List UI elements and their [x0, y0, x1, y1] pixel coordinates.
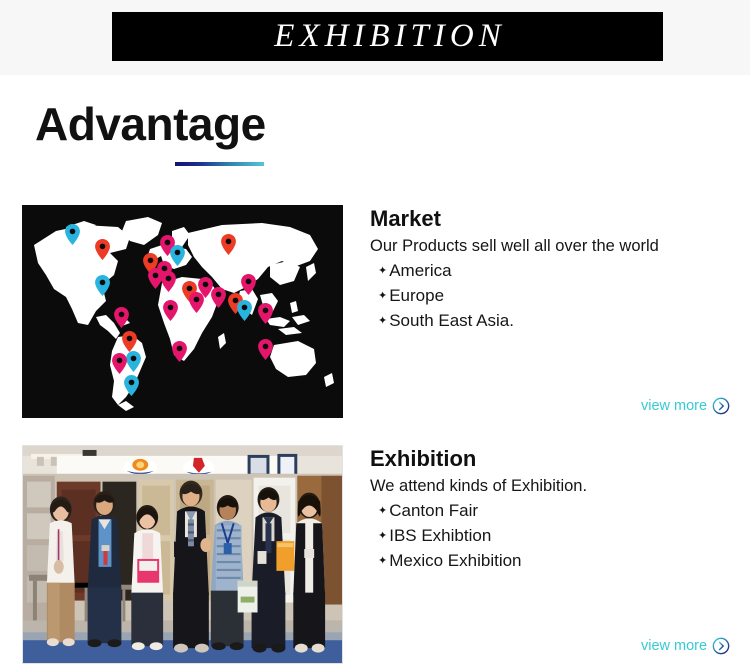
list-item: ✦Mexico Exhibition [378, 549, 730, 574]
exhibition-bullet-list: ✦Canton Fair ✦IBS Exhibtion ✦Mexico Exhi… [370, 499, 730, 574]
view-more-link-market[interactable]: view more [641, 397, 730, 415]
map-pin [241, 274, 256, 295]
market-title: Market [370, 205, 730, 233]
list-item-label: IBS Exhibtion [389, 526, 491, 545]
list-item-label: Europe [389, 286, 444, 305]
list-item-label: Mexico Exhibition [389, 551, 521, 570]
map-pin [95, 239, 110, 260]
market-copy: Market Our Products sell well all over t… [370, 205, 730, 334]
diamond-bullet-icon: ✦ [378, 553, 387, 569]
view-more-label: view more [641, 639, 707, 654]
diamond-bullet-icon: ✦ [378, 528, 387, 544]
exhibition-subtitle: We attend kinds of Exhibition. [370, 476, 730, 497]
photo-canvas [23, 446, 342, 663]
list-item-label: Canton Fair [389, 501, 478, 520]
diamond-bullet-icon: ✦ [378, 288, 387, 304]
list-item: ✦South East Asia. [378, 309, 730, 334]
map-pin [237, 300, 252, 321]
list-item: ✦America [378, 259, 730, 284]
arrow-circle-right-icon [712, 397, 730, 415]
title-underline-gradient [175, 162, 264, 166]
map-pin [221, 234, 236, 255]
view-more-link-exhibition[interactable]: view more [641, 637, 730, 655]
world-map-image [22, 205, 343, 418]
view-more-label: view more [641, 399, 707, 414]
list-item-label: South East Asia. [389, 311, 514, 330]
banner-title: EXHIBITION [269, 20, 505, 53]
market-subtitle: Our Products sell well all over the worl… [370, 236, 730, 257]
section-heading: Advantage [35, 100, 435, 150]
map-pin [114, 307, 129, 328]
map-pin [170, 245, 185, 266]
list-item-label: America [389, 261, 451, 280]
map-pin [161, 271, 176, 292]
list-item: ✦IBS Exhibtion [378, 524, 730, 549]
page-title: Advantage [35, 100, 435, 150]
market-bullet-list: ✦America ✦Europe ✦South East Asia. [370, 259, 730, 334]
map-pin [122, 331, 137, 352]
map-pin [95, 275, 110, 296]
map-pin [124, 375, 139, 396]
map-pin [112, 353, 127, 374]
list-item: ✦Canton Fair [378, 499, 730, 524]
map-pin [163, 300, 178, 321]
list-item: ✦Europe [378, 284, 730, 309]
exhibition-banner: EXHIBITION [112, 12, 663, 61]
map-pin [189, 292, 204, 313]
diamond-bullet-icon: ✦ [378, 263, 387, 279]
map-pin [172, 341, 187, 362]
map-pin [211, 287, 226, 308]
arrow-circle-right-icon [712, 637, 730, 655]
map-pin [126, 351, 141, 372]
map-pin [65, 224, 80, 245]
exhibition-title: Exhibition [370, 445, 730, 473]
banner-band: EXHIBITION [0, 0, 750, 75]
exhibition-copy: Exhibition We attend kinds of Exhibition… [370, 445, 730, 574]
exhibition-photo-image [22, 445, 343, 664]
map-pin [258, 303, 273, 324]
diamond-bullet-icon: ✦ [378, 503, 387, 519]
diamond-bullet-icon: ✦ [378, 313, 387, 329]
map-pin [258, 339, 273, 360]
exhibition-photo-svg [23, 446, 342, 663]
map-canvas [22, 205, 343, 418]
